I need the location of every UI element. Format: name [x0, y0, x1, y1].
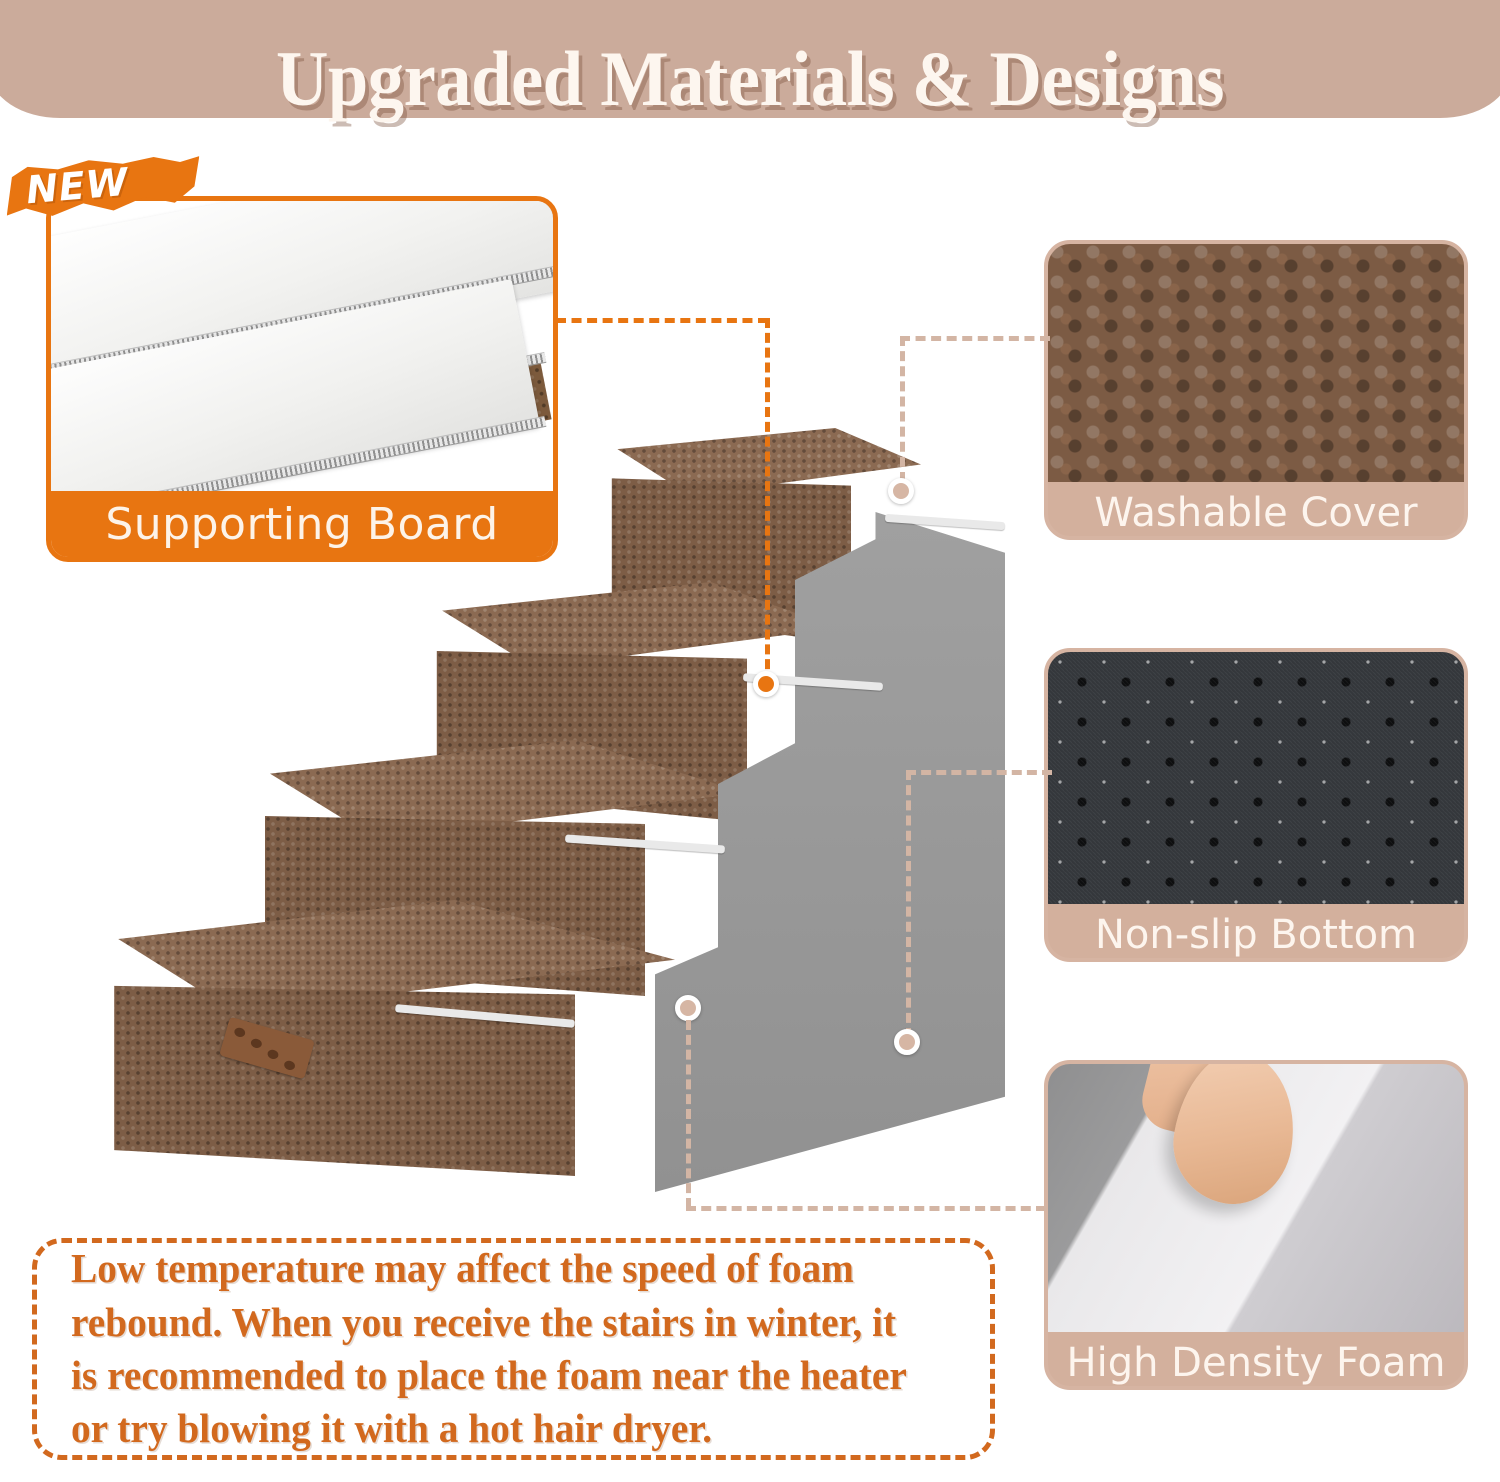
stair-riser-1: [95, 960, 575, 1176]
notice-text: Low temperature may affect the speed of …: [71, 1242, 921, 1455]
high-density-foam-photo: [1048, 1064, 1464, 1332]
pet-stairs-product-image: [95, 400, 1035, 1190]
non-slip-bottom-label: Non-slip Bottom: [1048, 904, 1464, 962]
hotspot-non-slip-bottom[interactable]: [894, 1029, 920, 1055]
washable-cover-photo: [1048, 244, 1464, 482]
feature-card-high-density-foam: High Density Foam: [1044, 1060, 1468, 1390]
connector-high-density-foam-v: [686, 1020, 691, 1208]
hotspot-supporting-board[interactable]: [753, 671, 779, 697]
washable-cover-label: Washable Cover: [1048, 482, 1464, 540]
paw-icon: [266, 1049, 279, 1061]
header-banner: [0, 0, 1500, 118]
connector-washable-cover-v: [900, 336, 905, 482]
new-badge: NEW: [8, 158, 198, 220]
connector-supporting-board-h: [556, 318, 768, 323]
hotspot-washable-cover[interactable]: [888, 478, 914, 504]
hotspot-high-density-foam[interactable]: [675, 995, 701, 1021]
paw-icon: [283, 1060, 296, 1072]
feature-card-non-slip-bottom: Non-slip Bottom: [1044, 648, 1468, 962]
high-density-foam-label: High Density Foam: [1048, 1332, 1464, 1390]
connector-high-density-foam-h: [686, 1206, 1046, 1211]
feature-card-washable-cover: Washable Cover: [1044, 240, 1468, 540]
paw-icon: [250, 1038, 263, 1050]
paw-icon: [233, 1027, 246, 1039]
connector-non-slip-v: [906, 770, 911, 1038]
non-slip-bottom-photo: [1048, 652, 1464, 904]
connector-non-slip-h: [906, 770, 1052, 775]
connector-washable-cover-h: [900, 336, 1050, 341]
new-badge-label: NEW: [24, 160, 130, 213]
low-temperature-notice: Low temperature may affect the speed of …: [32, 1238, 995, 1460]
infographic-canvas: Upgraded Materials & Designs Supporting …: [0, 0, 1500, 1482]
connector-supporting-board-v: [765, 318, 770, 684]
